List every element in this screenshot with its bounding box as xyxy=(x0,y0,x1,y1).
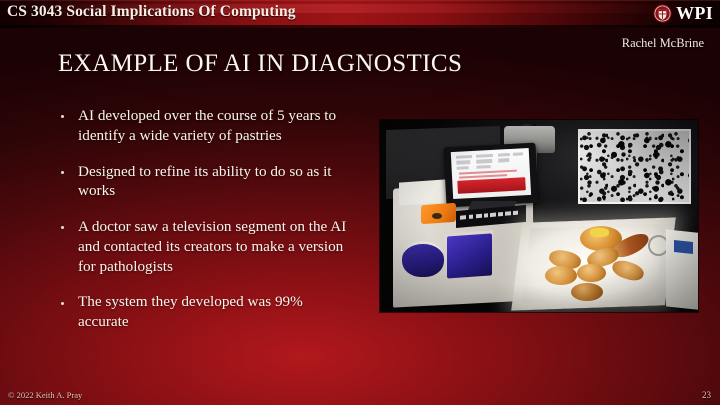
bullet-item: Designed to refine its ability to do so … xyxy=(56,162,356,202)
bullet-item: A doctor saw a television segment on the… xyxy=(56,217,356,276)
pastry-round-center xyxy=(577,264,606,282)
bullet-text: Designed to refine its ability to do so … xyxy=(78,163,332,200)
bullet-list: AI developed over the course of 5 years … xyxy=(56,106,356,332)
pastry-topping xyxy=(590,228,609,237)
bullet-dot-icon xyxy=(61,171,64,174)
wpi-seal-icon xyxy=(653,4,672,23)
pastry-bottom xyxy=(571,283,603,301)
tablet-display xyxy=(444,143,539,207)
bullet-item: AI developed over the course of 5 years … xyxy=(56,106,356,146)
course-title: CS 3043 Social Implications Of Computing xyxy=(7,3,296,21)
microscopy-image xyxy=(580,131,689,202)
bullet-item: The system they developed was 99% accura… xyxy=(56,292,356,332)
bullet-dot-icon xyxy=(61,226,64,229)
wpi-logo: WPI xyxy=(653,2,713,24)
bullet-dot-icon xyxy=(61,302,64,305)
pastry-round-lower-left xyxy=(545,266,577,285)
header-divider xyxy=(0,26,720,28)
slide-title: EXAMPLE OF AI IN DIAGNOSTICS xyxy=(58,50,462,78)
bullet-text: A doctor saw a television segment on the… xyxy=(78,218,346,275)
footer-copyright: © 2022 Keith A. Pray xyxy=(8,390,82,400)
slide: CS 3043 Social Implications Of Computing… xyxy=(0,0,720,405)
right-sign-blue-mark xyxy=(674,240,693,254)
tablet-red-button xyxy=(457,177,526,193)
bullet-text: AI developed over the course of 5 years … xyxy=(78,107,336,144)
blue-square-bin xyxy=(447,234,492,279)
blue-round-bin xyxy=(402,241,443,277)
wpi-wordmark: WPI xyxy=(676,4,713,22)
bullet-text: The system they developed was 99% accura… xyxy=(78,293,303,330)
footer-page-number: 23 xyxy=(702,390,711,400)
microscopy-inset xyxy=(578,129,691,204)
bullet-dot-icon xyxy=(61,115,64,118)
slide-photo xyxy=(380,120,698,312)
author-name: Rachel McBrine xyxy=(622,36,704,51)
tablet-screen xyxy=(451,148,531,200)
